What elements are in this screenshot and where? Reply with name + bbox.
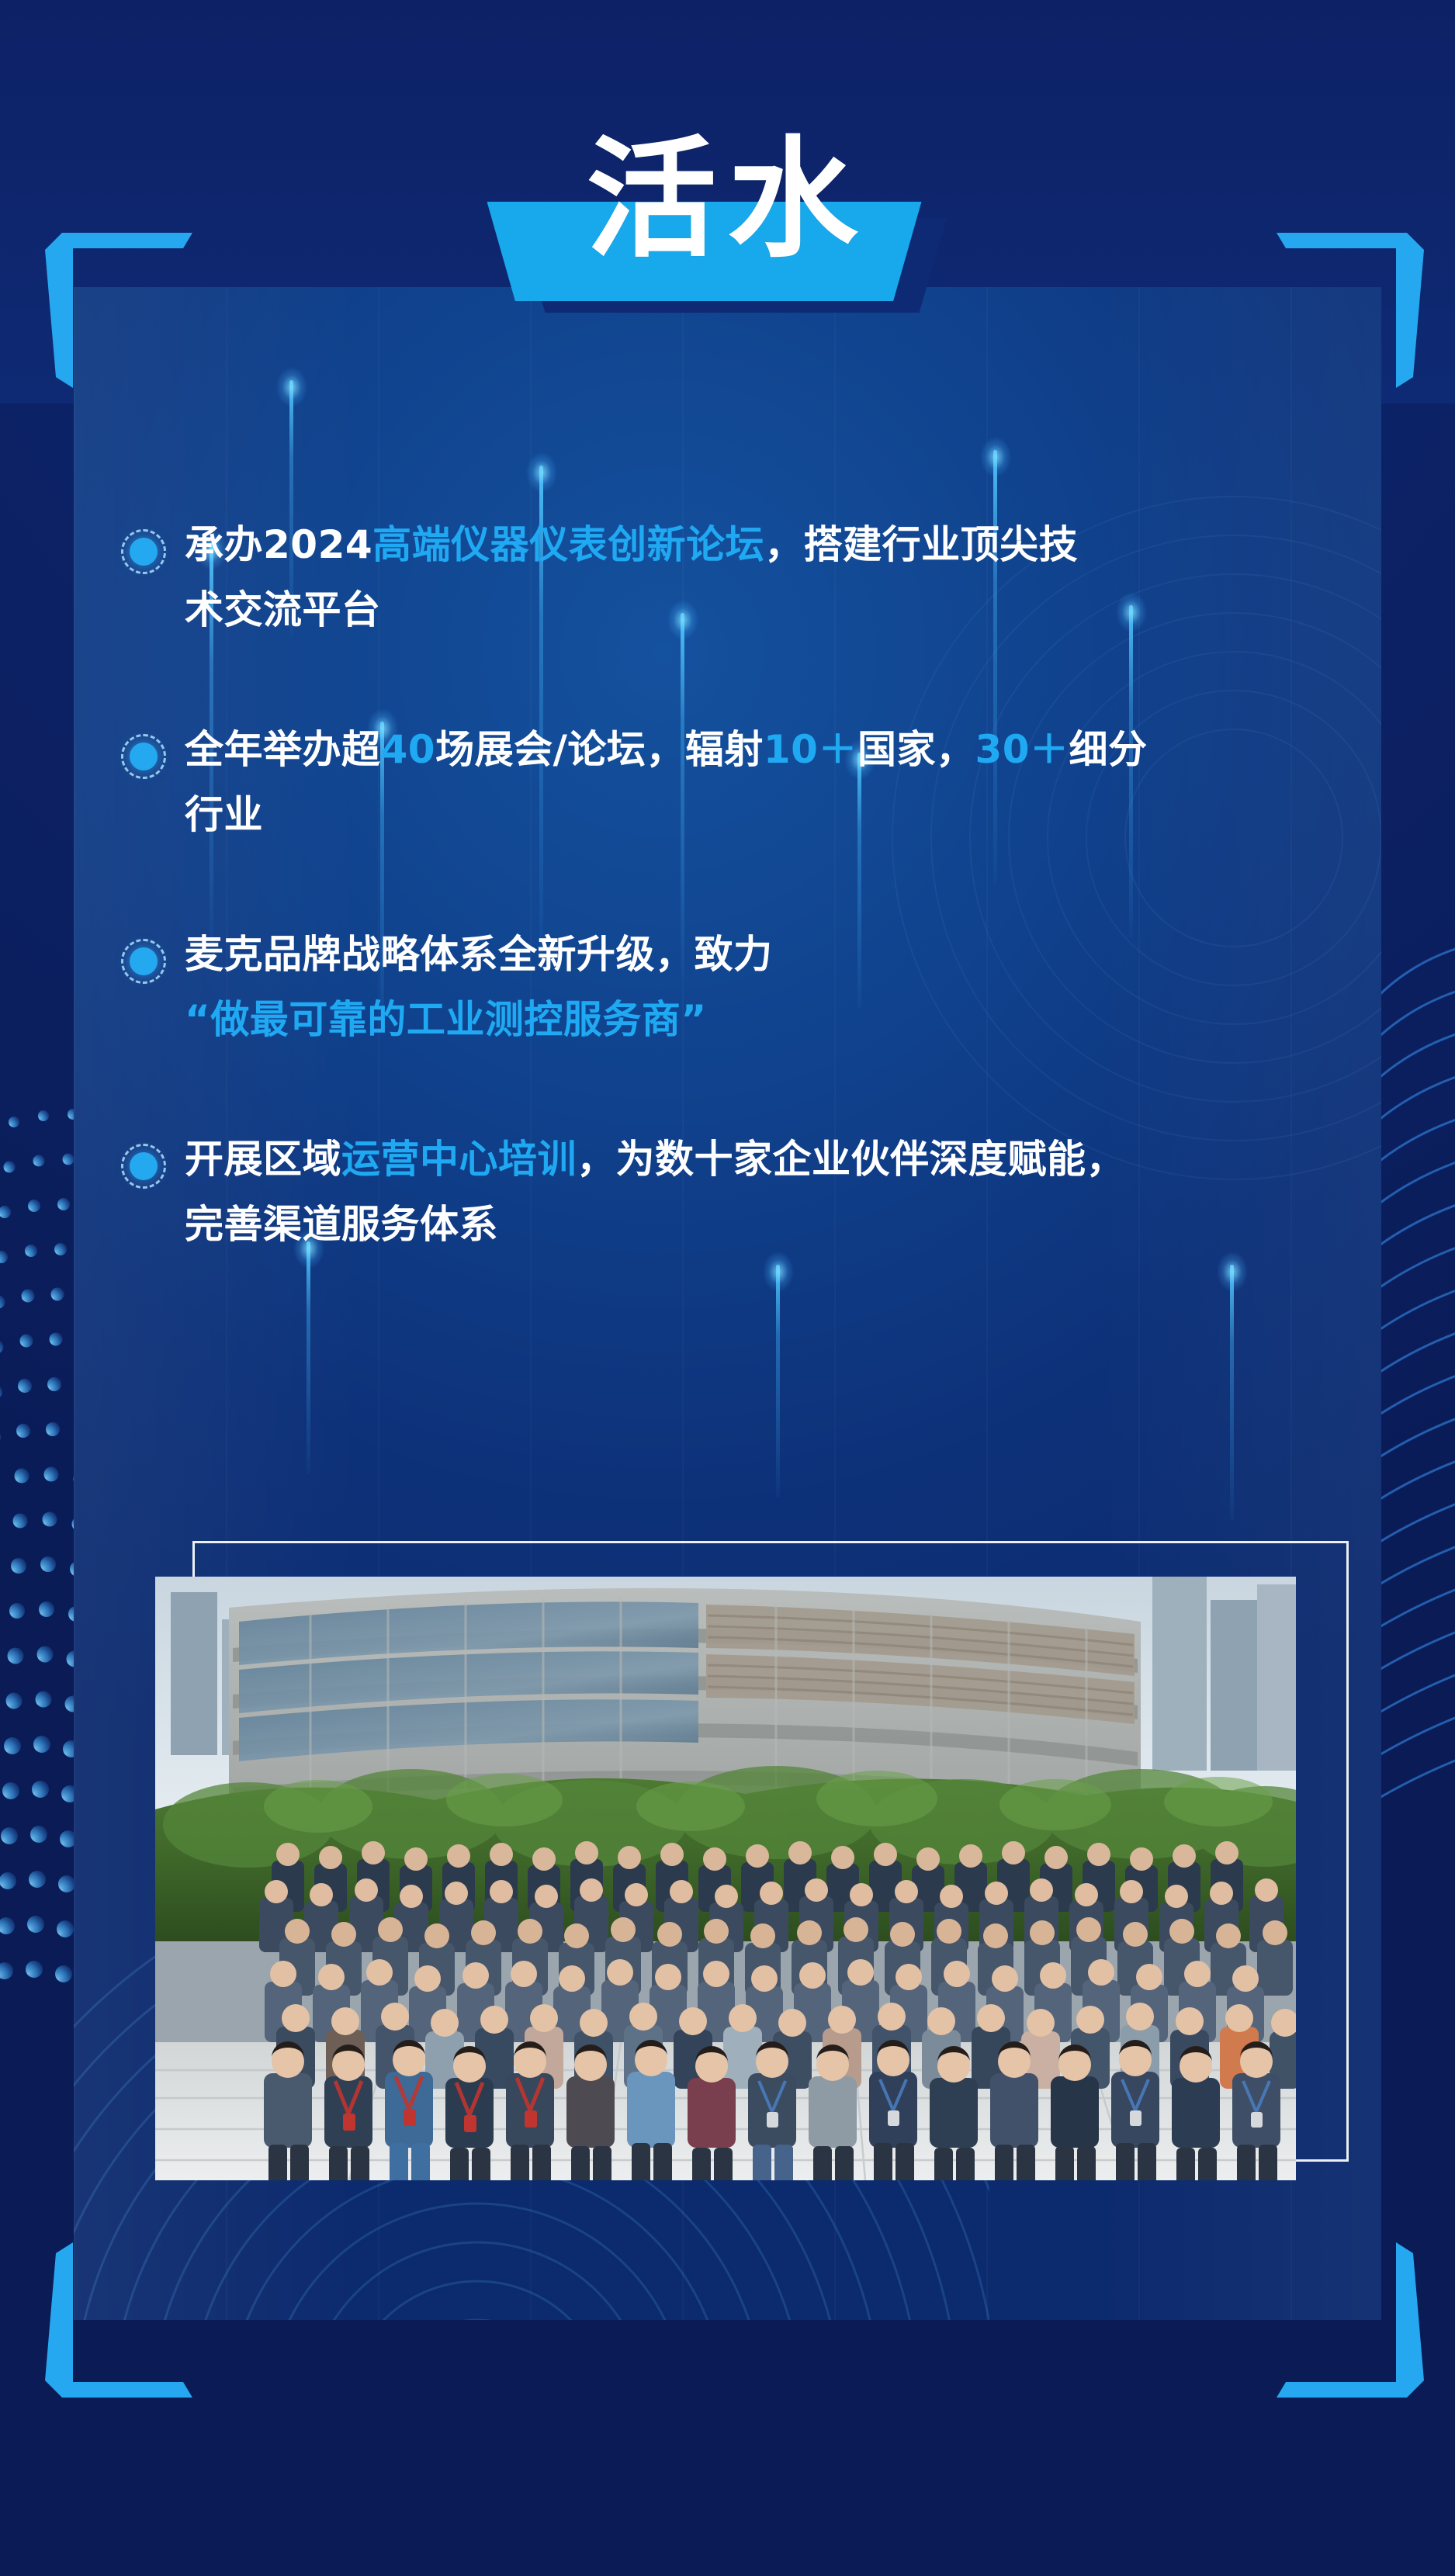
bullet-2-mid2: 国家， bbox=[857, 727, 975, 772]
bullet-4-line2: 完善渠道服务体系 bbox=[185, 1192, 1346, 1257]
list-item: 承办2024高端仪器仪表创新论坛，搭建行业顶尖技术交流平台 bbox=[101, 512, 1346, 642]
bullet-3-slogan: “做最可靠的工业测控服务商” bbox=[185, 987, 1346, 1052]
bullet-1-highlight: 高端仪器仪表创新论坛 bbox=[372, 522, 764, 567]
poster-root: 活水 承办2024高端仪器仪表创新论坛，搭建行业顶尖技术交流平台 全年举办超40… bbox=[0, 0, 1455, 2576]
bullet-dot-icon bbox=[121, 939, 166, 984]
list-item: 开展区域运营中心培训，为数十家企业伙伴深度赋能，完善渠道服务体系 bbox=[101, 1127, 1346, 1257]
bullet-1-line2: 术交流平台 bbox=[185, 577, 1346, 642]
bullet-2-line2: 行业 bbox=[185, 782, 1346, 847]
bullet-list: 承办2024高端仪器仪表创新论坛，搭建行业顶尖技术交流平台 全年举办超40场展会… bbox=[101, 512, 1346, 1257]
bullet-3-pre: 麦克品牌战略体系全新升级，致力 bbox=[185, 932, 773, 977]
bullet-2-number-10plus: 10＋ bbox=[764, 727, 857, 772]
bullet-text-1: 承办2024高端仪器仪表创新论坛，搭建行业顶尖技术交流平台 bbox=[185, 512, 1346, 642]
bullet-dot-icon bbox=[121, 1144, 166, 1189]
bullet-4-highlight: 运营中心培训 bbox=[341, 1137, 577, 1182]
title-banner: 活水 bbox=[0, 116, 1455, 349]
bullet-2-number-40: 40 bbox=[381, 727, 436, 772]
bullet-dot-icon bbox=[121, 529, 166, 574]
bullet-2-mid1: 场展会/论坛，辐射 bbox=[435, 727, 764, 772]
group-photo bbox=[155, 1577, 1296, 2180]
bullet-4-post: ，为数十家企业伙伴深度赋能， bbox=[577, 1137, 1125, 1182]
bullet-text-4: 开展区域运营中心培训，为数十家企业伙伴深度赋能，完善渠道服务体系 bbox=[185, 1127, 1346, 1257]
bullet-1-pre: 承办2024 bbox=[185, 522, 372, 567]
photo-block bbox=[155, 1560, 1311, 2180]
bullet-text-2: 全年举办超40场展会/论坛，辐射10＋国家，30＋细分行业 bbox=[185, 717, 1346, 847]
page-title: 活水 bbox=[487, 116, 968, 283]
bullet-text-3: 麦克品牌战略体系全新升级，致力“做最可靠的工业测控服务商” bbox=[185, 922, 1346, 1052]
bullet-4-pre: 开展区域 bbox=[185, 1137, 341, 1182]
list-item: 全年举办超40场展会/论坛，辐射10＋国家，30＋细分行业 bbox=[101, 717, 1346, 847]
list-item: 麦克品牌战略体系全新升级，致力“做最可靠的工业测控服务商” bbox=[101, 922, 1346, 1052]
bullet-2-number-30plus: 30＋ bbox=[975, 727, 1069, 772]
bullet-dot-icon bbox=[121, 734, 166, 779]
bullet-1-post: ，搭建行业顶尖技 bbox=[764, 522, 1078, 567]
bullet-2-post: 细分 bbox=[1069, 727, 1148, 772]
bullet-2-pre: 全年举办超 bbox=[185, 727, 381, 772]
